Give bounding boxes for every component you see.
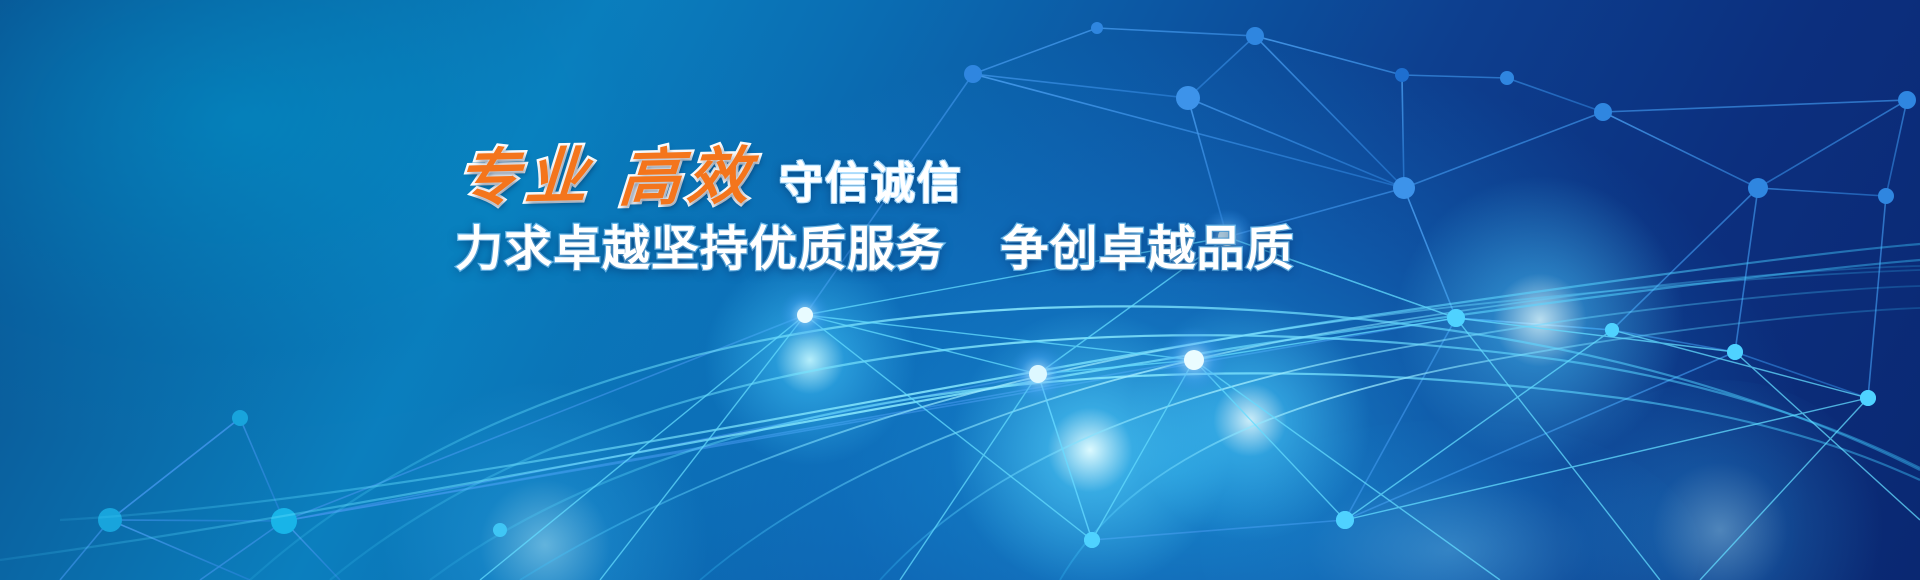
subline-part-two: 争创卓越品质 xyxy=(1000,221,1294,277)
subline-part-one: 力求卓越坚持优质服务 xyxy=(455,221,945,277)
headline-row: 专业 高效 守信诚信 xyxy=(455,138,1155,210)
marketing-banner: 专业 高效 守信诚信 力求卓越坚持优质服务 争创卓越品质 xyxy=(0,0,1920,580)
glowing-mesh-graphic xyxy=(0,0,1920,580)
headline-brush-primary: 专业 xyxy=(455,145,595,210)
headline-brush-secondary: 高效 xyxy=(617,145,757,210)
slogan-text-block: 专业 高效 守信诚信 力求卓越坚持优质服务 争创卓越品质 xyxy=(455,138,1155,274)
subline-row: 力求卓越坚持优质服务 争创卓越品质 xyxy=(455,224,1155,274)
headline-white-text: 守信诚信 xyxy=(779,162,963,210)
